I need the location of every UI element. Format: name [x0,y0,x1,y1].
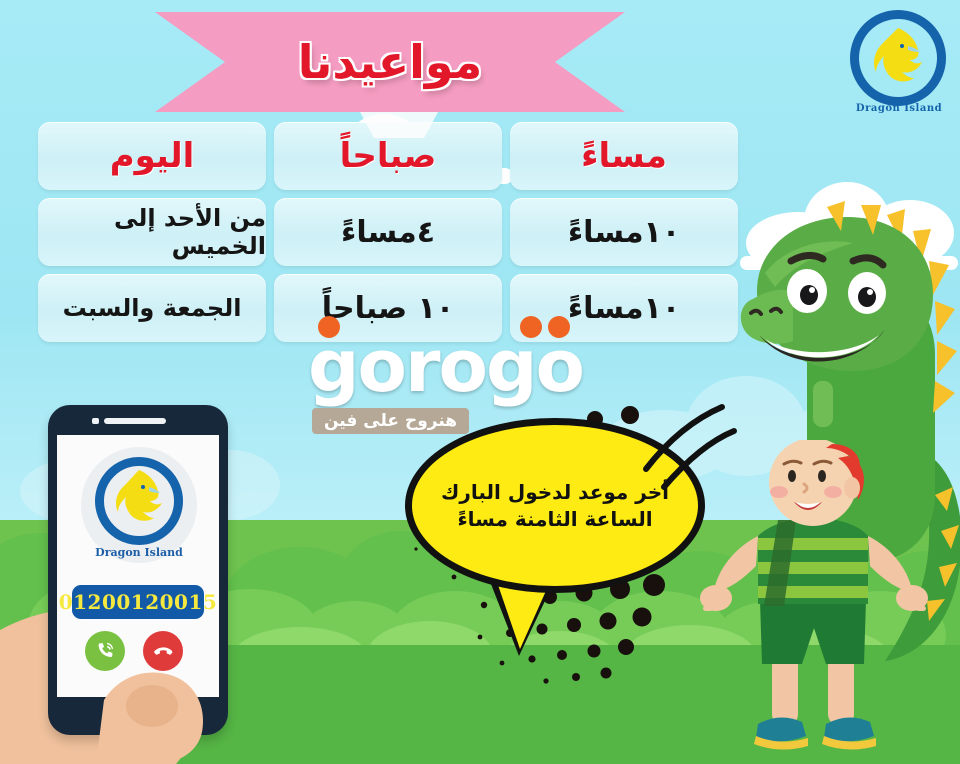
phone-number[interactable]: 01200120015 [72,585,204,619]
header-day: اليوم [38,122,266,190]
dragon-head-icon [111,467,169,525]
bubble-motion-lines [630,395,740,505]
row0-morning: ٤مساءً [274,198,502,266]
phone-camera-dot [92,418,99,424]
row0-evening: ١٠مساءً [510,198,738,266]
schedule-table: مساءً صباحاً اليوم ١٠مساءً ٤مساءً من الأ… [38,122,738,350]
poster-canvas: مساءً صباحاً اليوم ١٠مساءً ٤مساءً من الأ… [0,0,960,764]
phone-brand-logo: Dragon Island [81,447,197,563]
phone-speaker [104,418,166,424]
row1-day: الجمعة والسبت [38,274,266,342]
header-evening: مساءً [510,122,738,190]
brand-logo: Dragon Island [844,6,954,116]
watermark-tagline: هنروح على فين [312,408,469,434]
thumb [86,640,236,764]
watermark-dot [520,316,542,338]
page-title: مواعيدنا [155,12,625,112]
notice-line-2: الساعة الثامنة مساءً [457,506,652,533]
banner-ribbon: مواعيدنا [155,12,625,112]
watermark-dot [548,316,570,338]
phone-brand-name: Dragon Island [81,546,197,559]
row0-day: من الأحد إلى الخميس [38,198,266,266]
watermark-text: gorogo [308,330,583,402]
table-row: ١٠مساءً ٤مساءً من الأحد إلى الخميس [38,198,738,266]
dragon-head-icon [868,24,930,86]
watermark-dot [318,316,340,338]
brand-name: Dragon Island [844,103,954,114]
